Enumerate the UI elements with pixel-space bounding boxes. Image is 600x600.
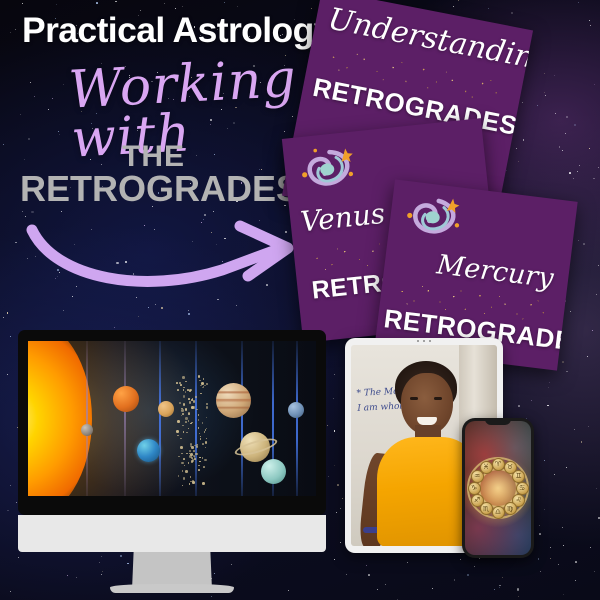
zodiac-sign: ♎ [492, 506, 505, 519]
smartphone-device[interactable]: ♈♉♊♋♌♍♎♏♐♑♒♓ [462, 418, 534, 558]
zodiac-sign: ♑ [468, 482, 481, 495]
planet-mars [158, 401, 174, 417]
zodiac-sign: ♓ [480, 461, 493, 474]
planet-earth [137, 439, 160, 462]
orbit-line [241, 341, 243, 496]
poster-canvas: Practical Astrology Working with THE RET… [0, 0, 600, 600]
subtitle-line-2: RETROGRADES [20, 168, 300, 210]
monitor-screen[interactable] [28, 341, 316, 496]
planet-venus [113, 386, 139, 412]
monitor-chin [18, 515, 326, 552]
planet-mercury [81, 424, 93, 436]
phone-screen[interactable]: ♈♉♊♋♌♍♎♏♐♑♒♓ [465, 421, 531, 555]
asteroid-belt [176, 375, 206, 485]
zodiac-sign: ♈ [492, 458, 505, 471]
spiral-galaxy-icon [295, 139, 365, 201]
desktop-monitor[interactable] [18, 330, 326, 590]
orbit-line [86, 341, 88, 496]
zodiac-sign: ♊ [512, 470, 525, 483]
orbit-line [159, 341, 161, 496]
curved-arrow-right-icon [26, 218, 316, 290]
planet-jupiter [216, 383, 251, 418]
card-script-title: Mercury [435, 249, 555, 294]
planet-saturn [234, 429, 278, 463]
planet-neptune [288, 402, 304, 418]
phone-notch [485, 418, 511, 425]
zodiac-wheel[interactable]: ♈♉♊♋♌♍♎♏♐♑♒♓ [467, 457, 529, 519]
orbit-line [296, 341, 298, 496]
spiral-galaxy-icon [399, 187, 469, 250]
zodiac-sign: ♋ [516, 482, 529, 495]
zodiac-sign: ♍ [504, 502, 517, 515]
zodiac-sign: ♐ [471, 494, 484, 507]
tablet-camera-icon [417, 340, 431, 342]
planet-uranus [261, 459, 286, 484]
orbit-line [124, 341, 126, 496]
monitor-stand-base [110, 584, 234, 593]
